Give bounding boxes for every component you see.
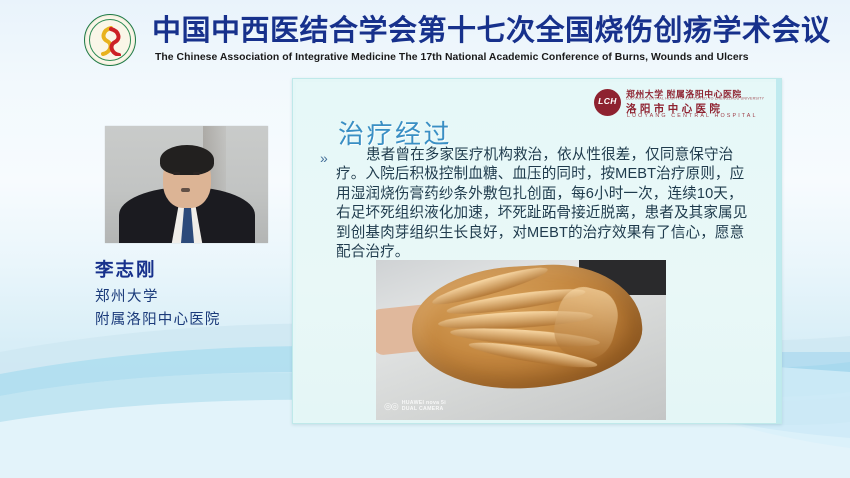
presenter-eye-left	[173, 172, 180, 175]
association-logo-icon	[84, 14, 136, 66]
page-title: 中国中西医结合学会第十七次全国烧伤创疡学术会议	[152, 12, 782, 50]
dual-camera-icon: ◎◎	[384, 403, 398, 409]
presenter-organization-line1: 郑州大学	[95, 285, 159, 306]
presentation-slide[interactable]: LCH 郑州大学 附属洛阳中心医院 LUOYANG CENTRAL HOSPIT…	[292, 78, 782, 424]
presenter-organization-line2: 附属洛阳中心医院	[95, 308, 221, 329]
presenter-video[interactable]	[105, 126, 268, 243]
hospital-logo: LCH 郑州大学 附属洛阳中心医院 LUOYANG CENTRAL HOSPIT…	[594, 86, 768, 119]
watermark-device: HUAWEI nova 5i	[402, 400, 446, 406]
presenter-eye-right	[193, 172, 200, 175]
presenter-mouth	[181, 188, 190, 192]
conference-header: 中国中西医结合学会第十七次全国烧伤创疡学术会议 The Chinese Asso…	[0, 0, 850, 78]
page-subtitle: The Chinese Association of Integrative M…	[155, 52, 795, 63]
photo-watermark: ◎◎ HUAWEI nova 5i DUAL CAMERA	[384, 400, 446, 412]
conference-broadcast-screen: 中国中西医结合学会第十七次全国烧伤创疡学术会议 The Chinese Asso…	[0, 0, 850, 478]
hospital-mark-icon: LCH	[594, 89, 621, 116]
hospital-mark-text: LCH	[594, 96, 621, 106]
slide-body-text: 患者曾在多家医疗机构救治，依从性很差，仅同意保守治疗。入院后积极控制血糖、血压的…	[336, 146, 756, 262]
clinical-photo: ◎◎ HUAWEI nova 5i DUAL CAMERA	[376, 260, 666, 420]
bullet-marker-icon: »	[320, 150, 328, 166]
presenter-hair	[160, 145, 214, 175]
watermark-feature: DUAL CAMERA	[402, 406, 444, 412]
hospital-name-en: LUOYANG CENTRAL HOSPITAL	[627, 113, 758, 119]
slide-right-edge	[776, 79, 781, 423]
presenter-name: 李志刚	[95, 256, 157, 282]
conference-footer: 主办：中国中西医结合学会 承办：中国中西医结合学会烧伤专业委员会 协办：西安交通…	[0, 424, 850, 478]
slide-canvas: LCH 郑州大学 附属洛阳中心医院 LUOYANG CENTRAL HOSPIT…	[296, 82, 778, 420]
